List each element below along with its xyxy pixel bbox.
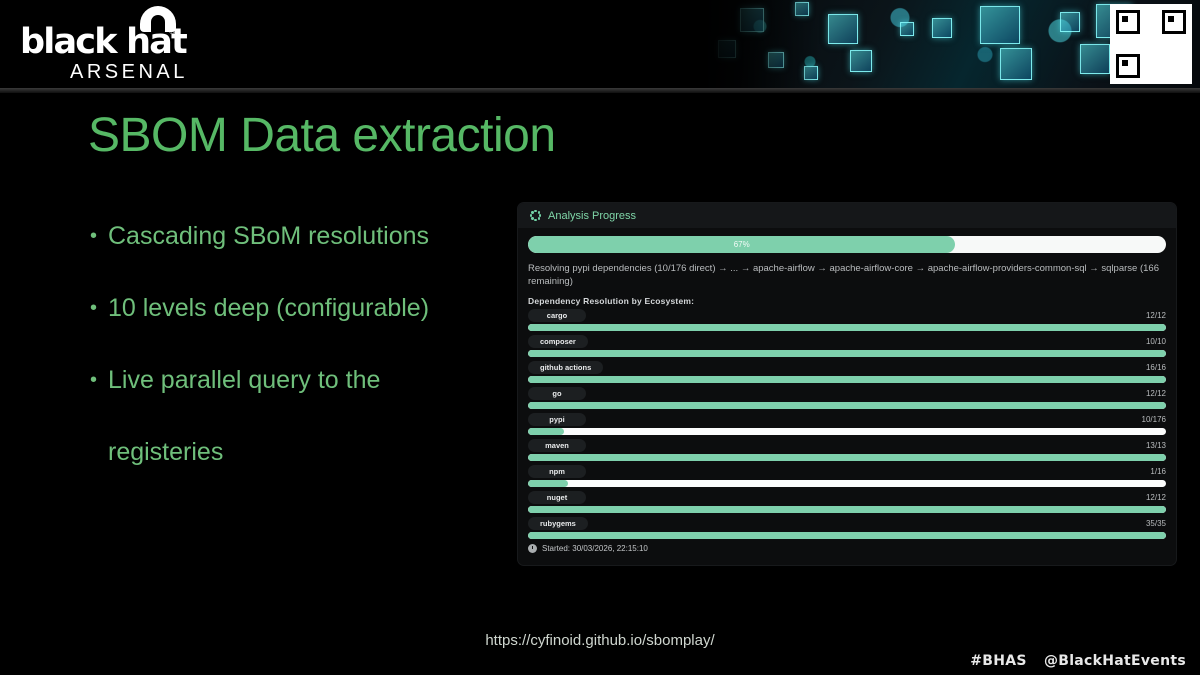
ecosystem-progress-fill bbox=[528, 324, 1166, 331]
ecosystem-count-label: 10/10 bbox=[1146, 337, 1166, 346]
ecosystem-name-chip: go bbox=[528, 387, 586, 400]
registered-mark-icon: ® bbox=[169, 26, 176, 36]
ecosystem-row-header: pypi10/176 bbox=[528, 413, 1166, 426]
ecosystem-rows: cargo12/12composer10/10github actions16/… bbox=[528, 309, 1166, 539]
ecosystem-count-label: 35/35 bbox=[1146, 519, 1166, 528]
ecosystem-row-header: github actions16/16 bbox=[528, 361, 1166, 374]
qr-code-icon bbox=[1114, 8, 1188, 80]
ecosystem-row: nuget12/12 bbox=[528, 491, 1166, 513]
ecosystem-count-label: 10/176 bbox=[1142, 415, 1166, 424]
loading-spinner-icon bbox=[530, 210, 541, 221]
ecosystem-progress-bar bbox=[528, 402, 1166, 409]
ecosystem-row-header: go12/12 bbox=[528, 387, 1166, 400]
list-item: • Cascading SBoM resolutions bbox=[90, 200, 500, 272]
ecosystem-progress-fill bbox=[528, 506, 1166, 513]
ecosystem-progress-bar bbox=[528, 428, 1166, 435]
panel-header: Analysis Progress bbox=[518, 203, 1176, 228]
list-item-label: Live parallel query to the registeries bbox=[108, 344, 500, 488]
qr-finder-top-right bbox=[1162, 10, 1186, 34]
bullet-icon: • bbox=[90, 200, 108, 272]
ecosystem-row: cargo12/12 bbox=[528, 309, 1166, 331]
banner-divider bbox=[0, 88, 1200, 93]
analysis-progress-panel: Analysis Progress 67% Resolving pypi dep… bbox=[518, 203, 1176, 565]
ecosystem-row: github actions16/16 bbox=[528, 361, 1166, 383]
ecosystem-row-header: npm1/16 bbox=[528, 465, 1166, 478]
ecosystem-row-header: composer10/10 bbox=[528, 335, 1166, 348]
bullet-icon: • bbox=[90, 344, 108, 416]
ecosystem-progress-bar bbox=[528, 480, 1166, 487]
event-hashtag: #BHAS bbox=[970, 653, 1027, 669]
ecosystem-name-chip: nuget bbox=[528, 491, 586, 504]
logo-wordmark: black hat bbox=[20, 22, 186, 62]
bullet-icon: • bbox=[90, 272, 108, 344]
ecosystem-progress-bar bbox=[528, 324, 1166, 331]
list-item-label: Cascading SBoM resolutions bbox=[108, 200, 500, 272]
ecosystem-progress-fill bbox=[528, 454, 1166, 461]
qr-finder-bottom-left bbox=[1116, 54, 1140, 78]
ecosystem-progress-fill bbox=[528, 376, 1166, 383]
started-timestamp: Started: 30/03/2026, 22:15:10 bbox=[542, 544, 648, 553]
ecosystem-row-header: nuget12/12 bbox=[528, 491, 1166, 504]
ecosystem-name-chip: composer bbox=[528, 335, 588, 348]
ecosystem-progress-fill bbox=[528, 402, 1166, 409]
ecosystem-count-label: 13/13 bbox=[1146, 441, 1166, 450]
ecosystem-count-label: 12/12 bbox=[1146, 311, 1166, 320]
clock-icon bbox=[528, 544, 537, 553]
ecosystem-row-header: maven13/13 bbox=[528, 439, 1166, 452]
event-handle: @BlackHatEvents bbox=[1044, 653, 1186, 669]
ecosystem-progress-fill bbox=[528, 532, 1166, 539]
ecosystem-progress-bar bbox=[528, 350, 1166, 357]
panel-footer: Started: 30/03/2026, 22:15:10 bbox=[528, 544, 1166, 553]
ecosystem-progress-bar bbox=[528, 506, 1166, 513]
bullet-list: • Cascading SBoM resolutions • 10 levels… bbox=[90, 200, 500, 488]
overall-progress-label: 67% bbox=[734, 240, 750, 249]
list-item-label: 10 levels deep (configurable) bbox=[108, 272, 500, 344]
black-hat-logo: black hat ® ARSENAL bbox=[12, 6, 192, 82]
qr-finder-top-left bbox=[1116, 10, 1140, 34]
overall-progress-bar: 67% bbox=[528, 236, 1166, 253]
ecosystem-count-label: 12/12 bbox=[1146, 493, 1166, 502]
panel-body: 67% Resolving pypi dependencies (10/176 … bbox=[518, 228, 1176, 553]
ecosystem-row: rubygems35/35 bbox=[528, 517, 1166, 539]
presentation-url[interactable]: https://cyfinoid.github.io/sbomplay/ bbox=[0, 632, 1200, 649]
ecosystem-progress-fill bbox=[528, 480, 568, 487]
ecosystem-count-label: 1/16 bbox=[1150, 467, 1166, 476]
ecosystem-name-chip: rubygems bbox=[528, 517, 588, 530]
ecosystem-section-heading: Dependency Resolution by Ecosystem: bbox=[528, 296, 1166, 306]
resolution-status-text: Resolving pypi dependencies (10/176 dire… bbox=[528, 262, 1166, 288]
ecosystem-row: npm1/16 bbox=[528, 465, 1166, 487]
logo-subtitle: ARSENAL bbox=[70, 61, 188, 84]
ecosystem-count-label: 16/16 bbox=[1146, 363, 1166, 372]
banner-fade bbox=[700, 0, 820, 88]
overall-progress-fill: 67% bbox=[528, 236, 955, 253]
list-item: • Live parallel query to the registeries bbox=[90, 344, 500, 488]
ecosystem-row: maven13/13 bbox=[528, 439, 1166, 461]
ecosystem-count-label: 12/12 bbox=[1146, 389, 1166, 398]
ecosystem-name-chip: pypi bbox=[528, 413, 586, 426]
ecosystem-progress-bar bbox=[528, 532, 1166, 539]
ecosystem-row-header: cargo12/12 bbox=[528, 309, 1166, 322]
list-item: • 10 levels deep (configurable) bbox=[90, 272, 500, 344]
ecosystem-progress-fill bbox=[528, 428, 564, 435]
ecosystem-name-chip: maven bbox=[528, 439, 586, 452]
ecosystem-progress-bar bbox=[528, 454, 1166, 461]
ecosystem-name-chip: npm bbox=[528, 465, 586, 478]
ecosystem-row: composer10/10 bbox=[528, 335, 1166, 357]
qr-code[interactable] bbox=[1110, 4, 1192, 84]
page-title: SBOM Data extraction bbox=[88, 108, 556, 163]
ecosystem-row-header: rubygems35/35 bbox=[528, 517, 1166, 530]
ecosystem-progress-bar bbox=[528, 376, 1166, 383]
panel-title: Analysis Progress bbox=[548, 210, 636, 222]
ecosystem-name-chip: github actions bbox=[528, 361, 603, 374]
top-banner: black hat ® ARSENAL bbox=[0, 0, 1200, 88]
ecosystem-name-chip: cargo bbox=[528, 309, 586, 322]
event-tags: #BHAS @BlackHatEvents bbox=[958, 653, 1186, 669]
ecosystem-progress-fill bbox=[528, 350, 1166, 357]
ecosystem-row: go12/12 bbox=[528, 387, 1166, 409]
ecosystem-row: pypi10/176 bbox=[528, 413, 1166, 435]
